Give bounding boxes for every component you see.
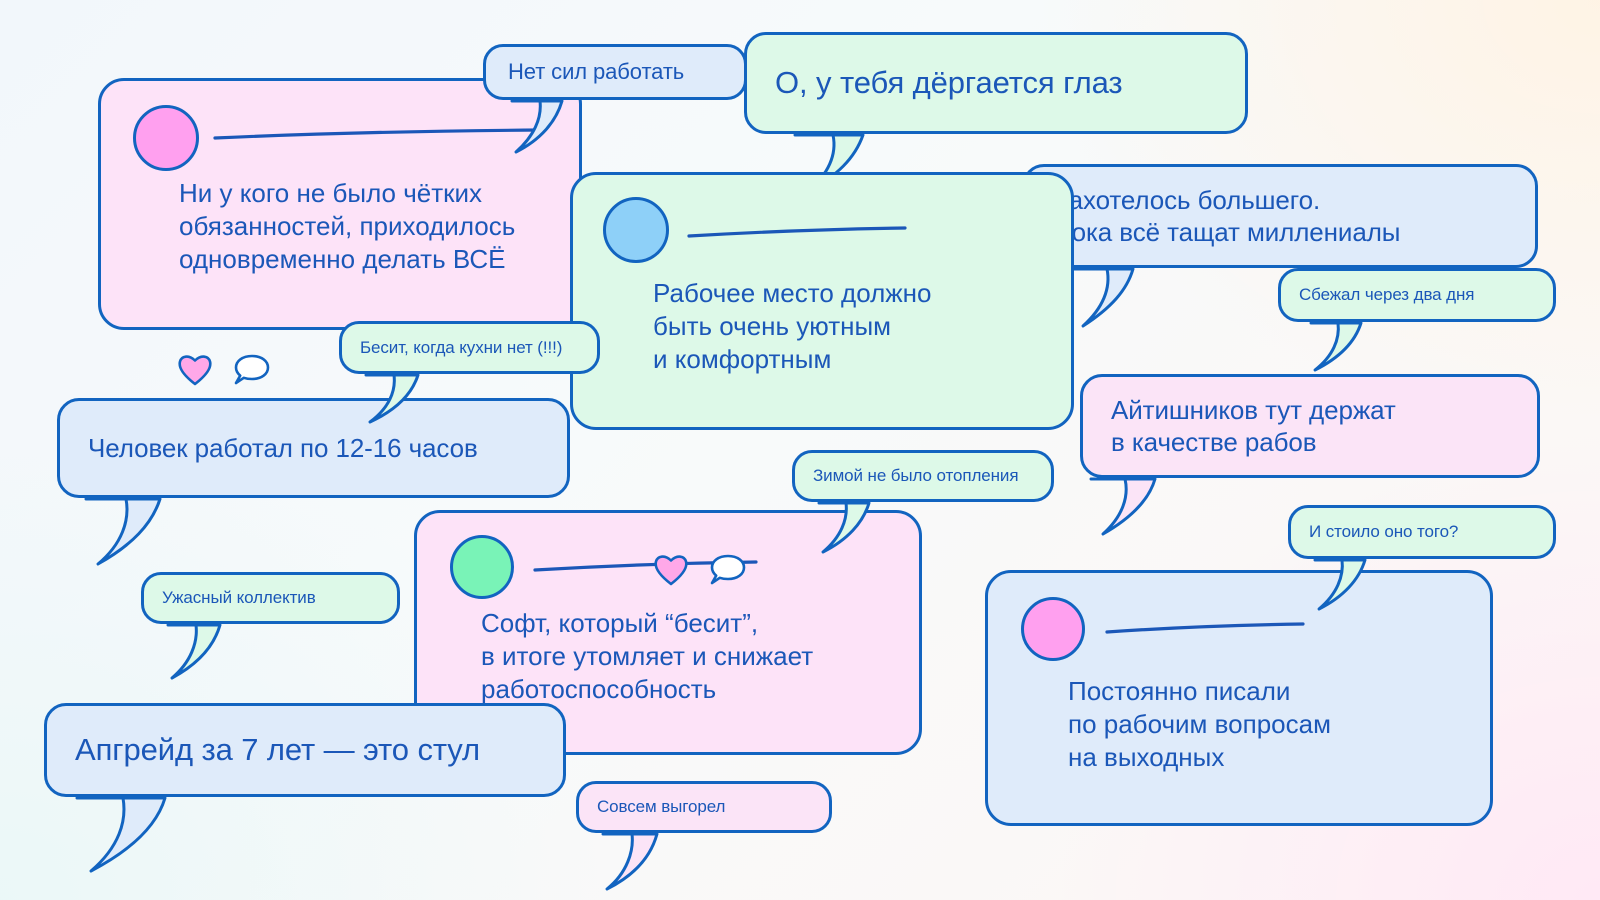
bubble-tail	[601, 833, 693, 895]
bubble-no-heating-text: Зимой не было отопления	[813, 465, 1033, 486]
bubble-it-slaves[interactable]: Айтишников тут держат в качестве рабов	[1080, 374, 1540, 478]
bubble-awful-team-text: Ужасный коллектив	[162, 587, 379, 608]
heart-icon[interactable]	[653, 553, 689, 586]
post-text: Ни у кого не было чётких обязанностей, п…	[179, 177, 579, 275]
bubble-eye-twitch-text: О, у тебя дёргается глаз	[775, 64, 1217, 102]
heart-icon[interactable]	[177, 353, 213, 386]
bubble-tail	[1071, 268, 1171, 332]
bubble-awful-team[interactable]: Ужасный коллектив	[141, 572, 400, 624]
post-card-cozy-workplace[interactable]: Рабочее место должно быть очень уютным и…	[570, 172, 1074, 430]
bubble-was-it-worth-text: И стоило оно того?	[1309, 521, 1535, 542]
bubble-was-it-worth[interactable]: И стоило оно того?	[1288, 505, 1556, 559]
bubble-no-strength-text: Нет сил работать	[508, 58, 722, 85]
bubble-upgrade-chair-text: Апгрейд за 7 лет — это стул	[75, 731, 535, 769]
comment-icon[interactable]	[233, 353, 271, 386]
avatar-pink	[1021, 597, 1085, 661]
bubble-upgrade-chair[interactable]: Апгрейд за 7 лет — это стул	[44, 703, 566, 797]
post-text: Постоянно писали по рабочим вопросам на …	[1068, 675, 1468, 773]
bubble-burned-out-text: Совсем выгорел	[597, 796, 811, 817]
bubble-tail	[84, 498, 194, 570]
bubble-ran-away-text: Сбежал через два дня	[1299, 284, 1535, 305]
bubble-eye-twitch[interactable]: О, у тебя дёргается глаз	[744, 32, 1248, 134]
avatar-blue	[603, 197, 669, 263]
speech-bubble-collage: Ни у кого не было чётких обязанностей, п…	[0, 0, 1600, 900]
bubble-no-heating[interactable]: Зимой не было отопления	[792, 450, 1054, 502]
avatar-pink	[133, 105, 199, 171]
bubble-wanted-more[interactable]: Захотелось большего. Пока всё тащат милл…	[1022, 164, 1538, 268]
post-text: Рабочее место должно быть очень уютным и…	[653, 277, 1043, 375]
comment-icon[interactable]	[709, 553, 747, 586]
reaction-row[interactable]	[177, 353, 271, 386]
name-placeholder-line	[213, 127, 543, 141]
reaction-row[interactable]	[653, 553, 747, 586]
avatar-green	[450, 535, 514, 599]
bubble-tail	[166, 624, 256, 684]
bubble-no-kitchen[interactable]: Бесит, когда кухни нет (!!!)	[339, 321, 600, 374]
bubble-ran-away[interactable]: Сбежал через два дня	[1278, 268, 1556, 322]
bubble-no-kitchen-text: Бесит, когда кухни нет (!!!)	[360, 337, 579, 358]
bubble-it-slaves-text: Айтишников тут держат в качестве рабов	[1111, 394, 1509, 458]
bubble-no-strength[interactable]: Нет сил работать	[483, 44, 747, 100]
bubble-tail	[1309, 322, 1391, 376]
name-placeholder-line	[687, 225, 907, 239]
bubble-tail	[75, 797, 199, 877]
bubble-worked-hours[interactable]: Человек работал по 12-16 часов	[57, 398, 570, 498]
name-placeholder-line	[1105, 621, 1305, 635]
bubble-worked-hours-text: Человек работал по 12-16 часов	[88, 432, 539, 464]
bubble-wanted-more-text: Захотелось большего. Пока всё тащат милл…	[1053, 184, 1507, 248]
post-text: Софт, который “бесит”, в итоге утомляет …	[481, 607, 901, 705]
post-card-no-duties[interactable]: Ни у кого не было чётких обязанностей, п…	[98, 78, 582, 330]
post-card-weekend-messages[interactable]: Постоянно писали по рабочим вопросам на …	[985, 570, 1493, 826]
bubble-tail	[1069, 478, 1179, 540]
bubble-burned-out[interactable]: Совсем выгорел	[576, 781, 832, 833]
